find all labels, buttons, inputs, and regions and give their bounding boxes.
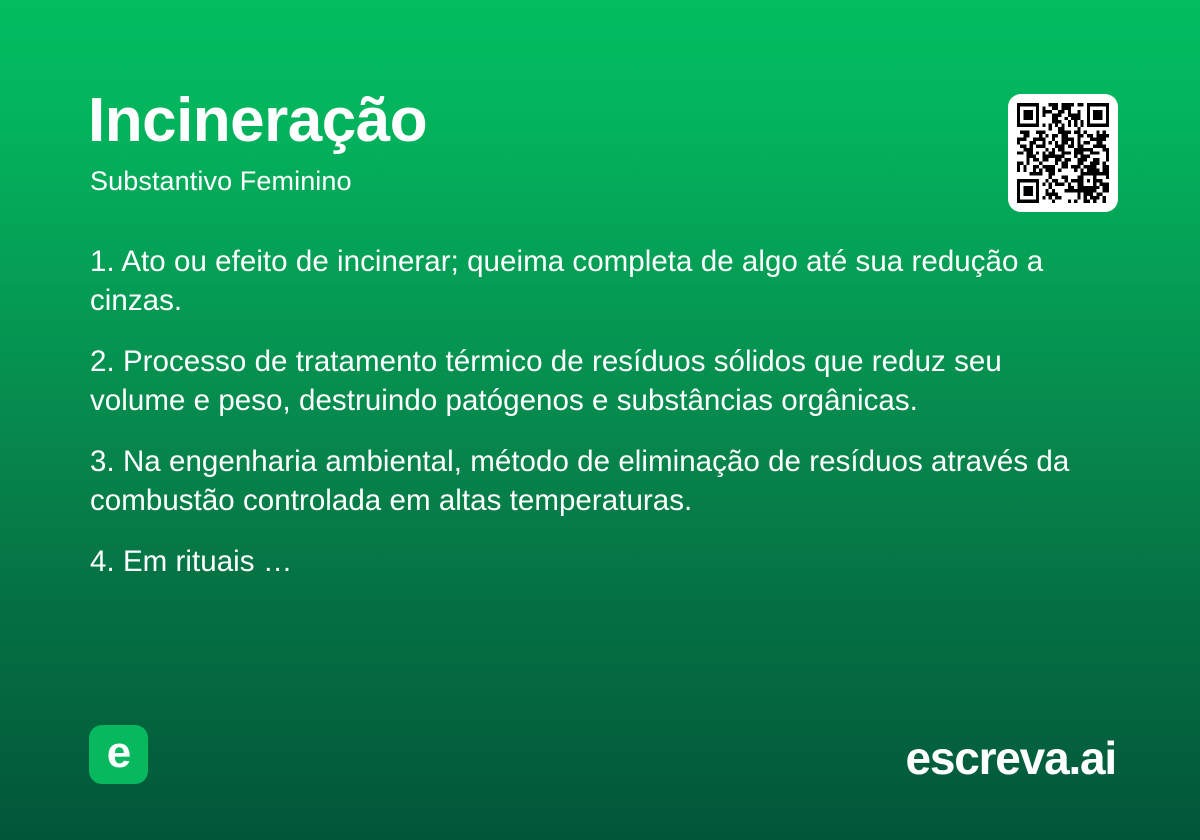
definition-item: 3. Na engenharia ambiental, método de el…: [90, 443, 1095, 521]
word-class-label: Substantivo Feminino: [90, 167, 352, 197]
definition-list: 1. Ato ou efeito de incinerar; queima co…: [90, 243, 1095, 582]
logo-letter: e: [107, 731, 130, 775]
definition-item: 1. Ato ou efeito de incinerar; queima co…: [90, 243, 1095, 321]
qr-code[interactable]: [1008, 94, 1118, 212]
definition-item: 4. Em rituais …: [90, 543, 1095, 582]
card-header: Incineração Substantivo Feminino: [0, 0, 1200, 230]
qr-code-icon: [1017, 103, 1109, 203]
definition-card: Incineração Substantivo Feminino 1. Ato …: [0, 0, 1200, 840]
logo-mark: e: [89, 725, 148, 784]
page-title: Incineração: [88, 88, 427, 153]
card-footer: e escreva.ai: [0, 710, 1200, 840]
brand-name: escreva.ai: [905, 733, 1116, 784]
definition-item: 2. Processo de tratamento térmico de res…: [90, 343, 1095, 421]
